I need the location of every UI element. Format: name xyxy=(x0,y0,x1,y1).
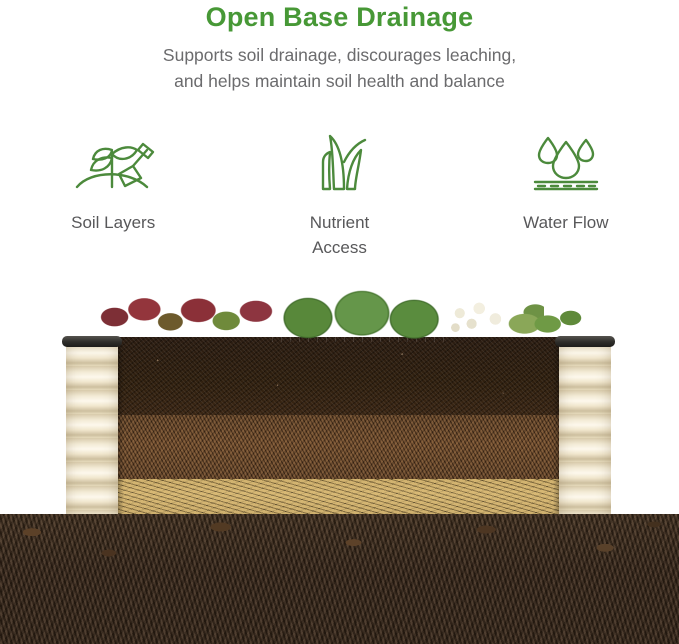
soil-layer-straw xyxy=(100,479,580,517)
water-droplets-drainage-icon xyxy=(523,132,609,194)
feature-nutrient-access: Nutrient Access xyxy=(226,132,452,262)
garden-soil-ground xyxy=(0,514,679,644)
feature-label-soil-layers: Soil Layers xyxy=(71,210,155,235)
grass-blades-icon xyxy=(299,132,379,194)
feature-label-line-1: Nutrient xyxy=(310,210,370,235)
feature-water-flow: Water Flow xyxy=(453,132,679,262)
feature-label-nutrient-access: Nutrient Access xyxy=(310,210,370,260)
corner-post-left-cap xyxy=(62,336,122,347)
seedling-shovel-soil-icon xyxy=(67,132,159,194)
subtitle-line-2: and helps maintain soil health and balan… xyxy=(0,68,679,94)
subtitle-line-1: Supports soil drainage, discourages leac… xyxy=(0,42,679,68)
garden-bed-scene xyxy=(0,262,679,644)
soil-layer-compost xyxy=(100,415,580,479)
feature-label-water-flow: Water Flow xyxy=(523,210,608,235)
feature-row: Soil Layers Nutrient Access xyxy=(0,132,679,262)
feature-soil-layers: Soil Layers xyxy=(0,132,226,262)
feature-label-line-2: Access xyxy=(310,235,370,260)
planted-vegetables xyxy=(96,280,588,342)
corner-post-right-cap xyxy=(555,336,615,347)
green-cabbage xyxy=(272,282,452,342)
page-title: Open Base Drainage xyxy=(0,0,679,34)
page-subtitle: Supports soil drainage, discourages leac… xyxy=(0,42,679,94)
soil-layer-topsoil xyxy=(100,337,580,415)
feature-label-line-1: Soil Layers xyxy=(71,213,155,232)
red-leaf-lettuce xyxy=(96,294,282,342)
feature-label-line-1: Water Flow xyxy=(523,213,608,232)
open-base-drainage-infographic: Open Base Drainage Supports soil drainag… xyxy=(0,0,679,644)
